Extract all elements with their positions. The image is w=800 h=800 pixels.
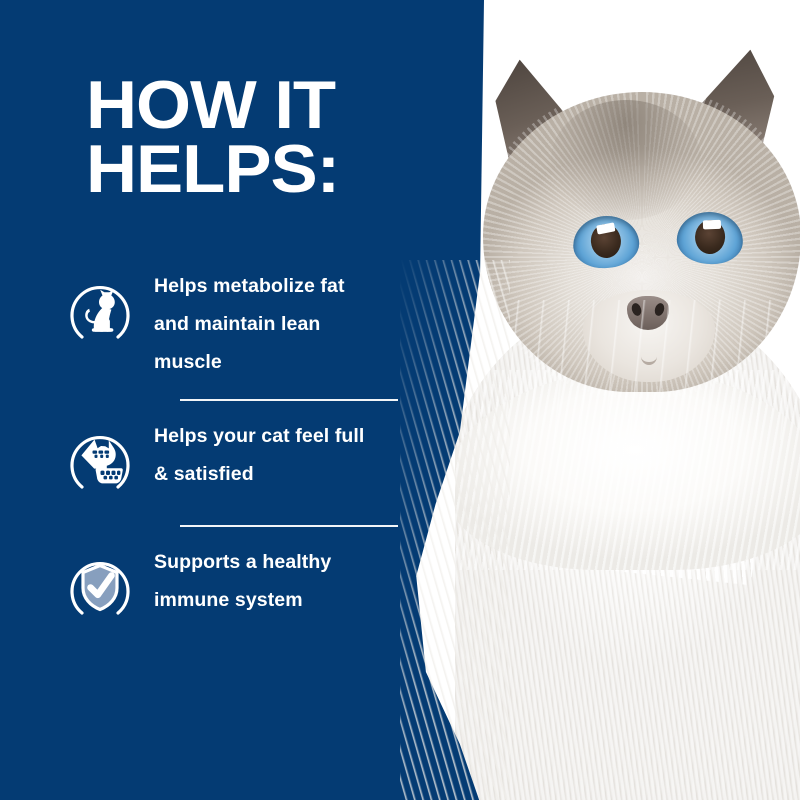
cat-mouth	[641, 348, 657, 365]
benefit-item-metabolize: Helps metabolize fat and maintain lean m…	[64, 265, 424, 385]
cat-neck-ruff	[455, 370, 800, 570]
promo-card: HOW IT HELPS:	[0, 0, 800, 800]
sitting-cat-in-circle-icon	[64, 273, 136, 345]
benefit-divider	[180, 525, 398, 527]
cat-eye-glint-right	[703, 220, 721, 230]
benefits-list: Helps metabolize fat and maintain lean m…	[64, 265, 424, 637]
benefit-label: Helps metabolize fat and maintain lean m…	[154, 265, 384, 381]
benefit-item-satiety: Helps your cat feel full & satisfied	[64, 415, 424, 511]
benefit-item-immune: Supports a healthy immune system	[64, 541, 424, 637]
cat-nostril-right	[653, 302, 666, 317]
benefit-label: Supports a healthy immune system	[154, 541, 384, 619]
page-title: HOW IT HELPS:	[86, 74, 440, 202]
cat-head-with-food-bowl-in-circle-icon	[64, 423, 136, 495]
panel-content: HOW IT HELPS:	[0, 0, 484, 800]
cat-photo	[455, 0, 800, 800]
benefit-divider	[180, 399, 398, 401]
cat-nostril-left	[630, 302, 643, 317]
cat-forehead-shading	[551, 100, 701, 220]
fur-fringe	[455, 370, 800, 570]
benefit-label: Helps your cat feel full & satisfied	[154, 415, 384, 493]
shield-with-checkmark-in-circle-icon	[64, 549, 136, 621]
